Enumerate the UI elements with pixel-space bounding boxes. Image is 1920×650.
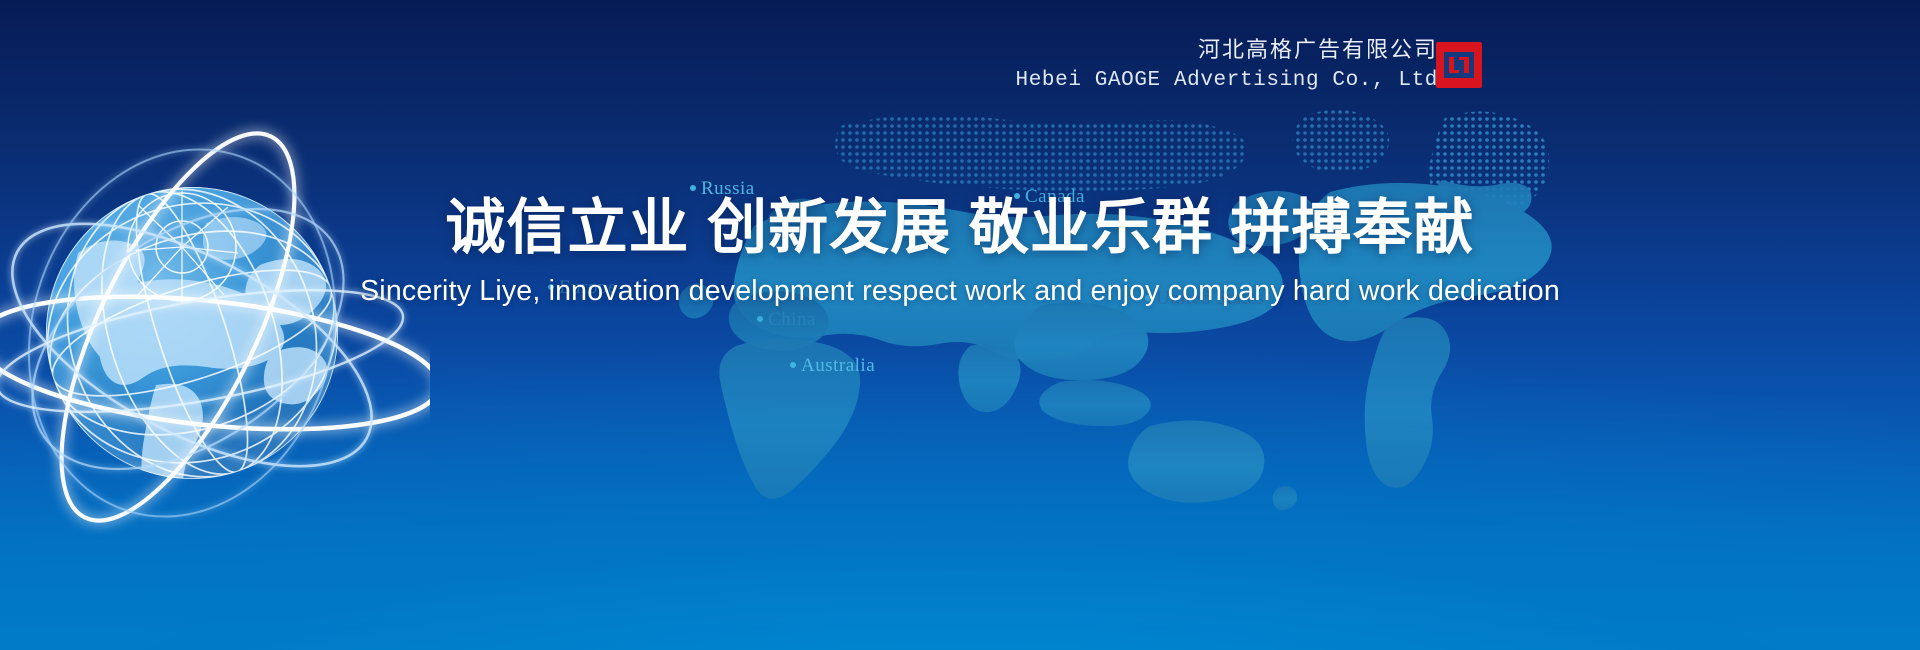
map-label-australia: Australia [790,355,875,377]
slogan-chinese: 诚信立业 创新发展 敬业乐群 拼搏奉献 [410,196,1510,260]
company-name-cn: 河北高格广告有限公司 [1016,36,1438,64]
map-pin-dot-icon [757,316,763,322]
map-pin-dot-icon [690,185,696,191]
hero-banner: Russia Canada Europe China United States… [0,0,1920,650]
gaoge-square-logo-icon[interactable] [1436,42,1482,88]
company-name-block: 河北高格广告有限公司 Hebei GAOGE Advertising Co., … [1016,36,1438,94]
map-label-china: China [757,309,816,331]
slogan-english: Sincerity Liye, innovation development r… [260,274,1660,310]
orbiting-globe-icon [0,95,430,565]
company-name-en: Hebei GAOGE Advertising Co., Ltd [1016,68,1438,94]
map-pin-dot-icon [790,362,796,368]
